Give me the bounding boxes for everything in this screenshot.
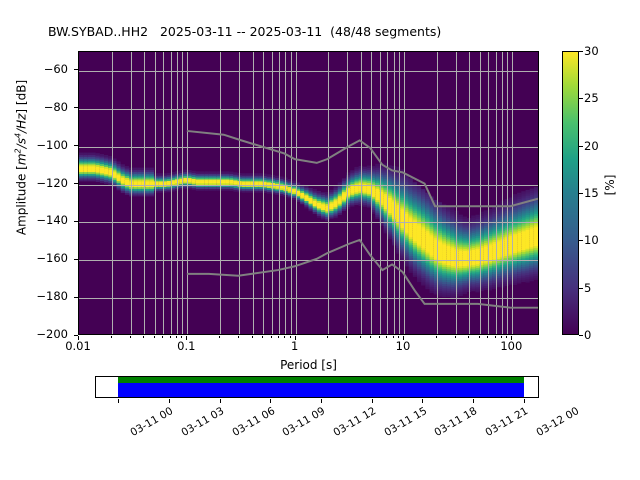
colorbar-tick-mark (579, 240, 583, 241)
x-tick-mark (290, 336, 291, 338)
timeline-tick-mark (422, 399, 423, 403)
timeline-tick-mark (220, 399, 221, 403)
x-tick-mark (154, 336, 155, 338)
colorbar-tick-mark (579, 51, 583, 52)
noise-model-nlnm (187, 240, 538, 308)
colorbar-tick-mark (579, 193, 583, 194)
x-tick-mark (284, 336, 285, 338)
x-tick-mark (181, 336, 182, 338)
colorbar-tick-mark (579, 98, 583, 99)
x-tick-label: 10 (373, 339, 433, 353)
colorbar (562, 51, 579, 335)
timeline-tick-mark (372, 399, 373, 403)
x-tick-mark (370, 336, 371, 338)
x-tick-mark (252, 336, 253, 338)
x-tick-mark (143, 336, 144, 338)
timeline-tick-mark (321, 399, 322, 403)
ppsd-plot-area (78, 51, 539, 335)
x-tick-mark (176, 336, 177, 338)
colorbar-tick-label: 30 (584, 45, 599, 58)
x-tick-label: 1 (265, 339, 325, 353)
colorbar-tick-label: 20 (584, 140, 599, 153)
data-coverage-timeline[interactable] (95, 376, 539, 398)
colorbar-tick-label: 0 (584, 329, 591, 342)
x-tick-label: 0.1 (156, 339, 216, 353)
colorbar-tick-label: 15 (584, 187, 599, 200)
x-tick-mark (506, 336, 507, 338)
colorbar-tick-mark (579, 146, 583, 147)
y-axis-label: Amplitude [m2/s4/Hz] [dB] (14, 18, 29, 298)
x-tick-mark (238, 336, 239, 338)
x-tick-mark (360, 336, 361, 338)
x-tick-mark (130, 336, 131, 338)
timeline-tick-mark (270, 399, 271, 403)
x-tick-mark (379, 336, 380, 338)
x-tick-mark (170, 336, 171, 338)
x-tick-mark (262, 336, 263, 338)
x-tick-mark (162, 336, 163, 338)
x-tick-mark (495, 336, 496, 338)
colorbar-tick-mark (579, 288, 583, 289)
x-tick-mark (327, 336, 328, 338)
ppsd-figure: BW.SYBAD..HH2 2025-03-11 -- 2025-03-11 (… (0, 0, 640, 480)
timeline-tick-mark (169, 399, 170, 403)
x-tick-mark (436, 336, 437, 338)
x-tick-label: 0.01 (48, 339, 108, 353)
x-tick-label: 100 (481, 339, 541, 353)
x-tick-mark (219, 336, 220, 338)
colorbar-tick-label: 5 (584, 282, 591, 295)
noise-model-nhnm (187, 131, 538, 206)
x-tick-mark (468, 336, 469, 338)
x-tick-mark (393, 336, 394, 338)
x-tick-mark (271, 336, 272, 338)
colorbar-tick-label: 10 (584, 234, 599, 247)
x-tick-mark (386, 336, 387, 338)
x-tick-mark (501, 336, 502, 338)
timeline-band-psd (118, 383, 524, 397)
colorbar-label: [%] (603, 135, 617, 235)
noise-model-curves (79, 52, 538, 334)
x-tick-mark (455, 336, 456, 338)
x-axis-label: Period [s] (78, 358, 539, 372)
colorbar-tick-mark (579, 335, 583, 336)
x-tick-mark (479, 336, 480, 338)
timeline-tick-mark (118, 399, 119, 403)
x-tick-mark (487, 336, 488, 338)
x-tick-mark (278, 336, 279, 338)
timeline-tick-mark (524, 399, 525, 403)
timeline-tick-mark (473, 399, 474, 403)
colorbar-tick-label: 25 (584, 92, 599, 105)
x-tick-mark (398, 336, 399, 338)
x-tick-mark (111, 336, 112, 338)
x-tick-mark (346, 336, 347, 338)
